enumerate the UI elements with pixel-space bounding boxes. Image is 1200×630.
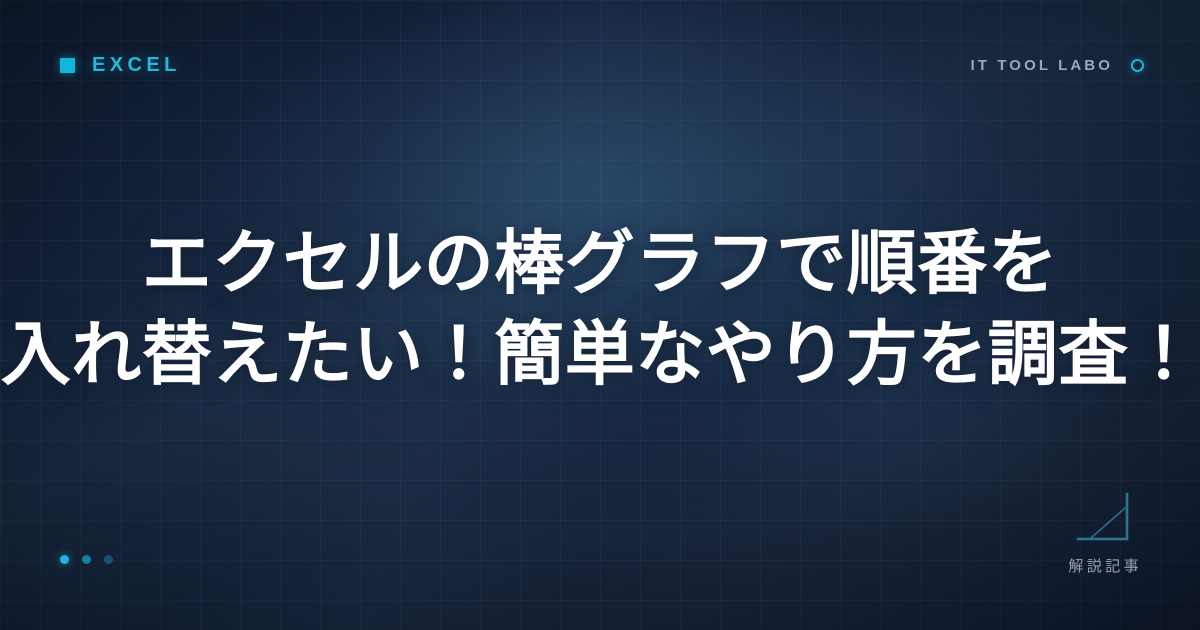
site-name-label: IT TOOL LABO <box>971 58 1113 73</box>
filled-square-icon <box>60 58 75 73</box>
dot-indicator-2 <box>82 555 91 564</box>
headline-line-2: 入れ替えたい！簡単なやり方を調査！ <box>1 309 1200 400</box>
article-type-badge: 解説記事 <box>1065 491 1142 574</box>
site-identity: IT TOOL LABO <box>971 58 1144 73</box>
og-image-card: EXCEL IT TOOL LABO エクセルの棒グラフで順番を 入れ替えたい！… <box>0 0 1200 630</box>
circle-outline-icon <box>1131 59 1144 72</box>
category-label: EXCEL <box>92 55 181 75</box>
category-badge: EXCEL <box>60 55 181 75</box>
dot-indicator-1 <box>60 555 69 564</box>
headline-line-1: エクセルの棒グラフで順番を <box>142 218 1059 309</box>
card-header: EXCEL IT TOOL LABO <box>0 0 1200 130</box>
line-chart-axes-icon <box>1075 491 1133 543</box>
decorative-dots <box>60 555 113 564</box>
dot-indicator-3 <box>104 555 113 564</box>
article-type-caption: 解説記事 <box>1065 559 1142 574</box>
